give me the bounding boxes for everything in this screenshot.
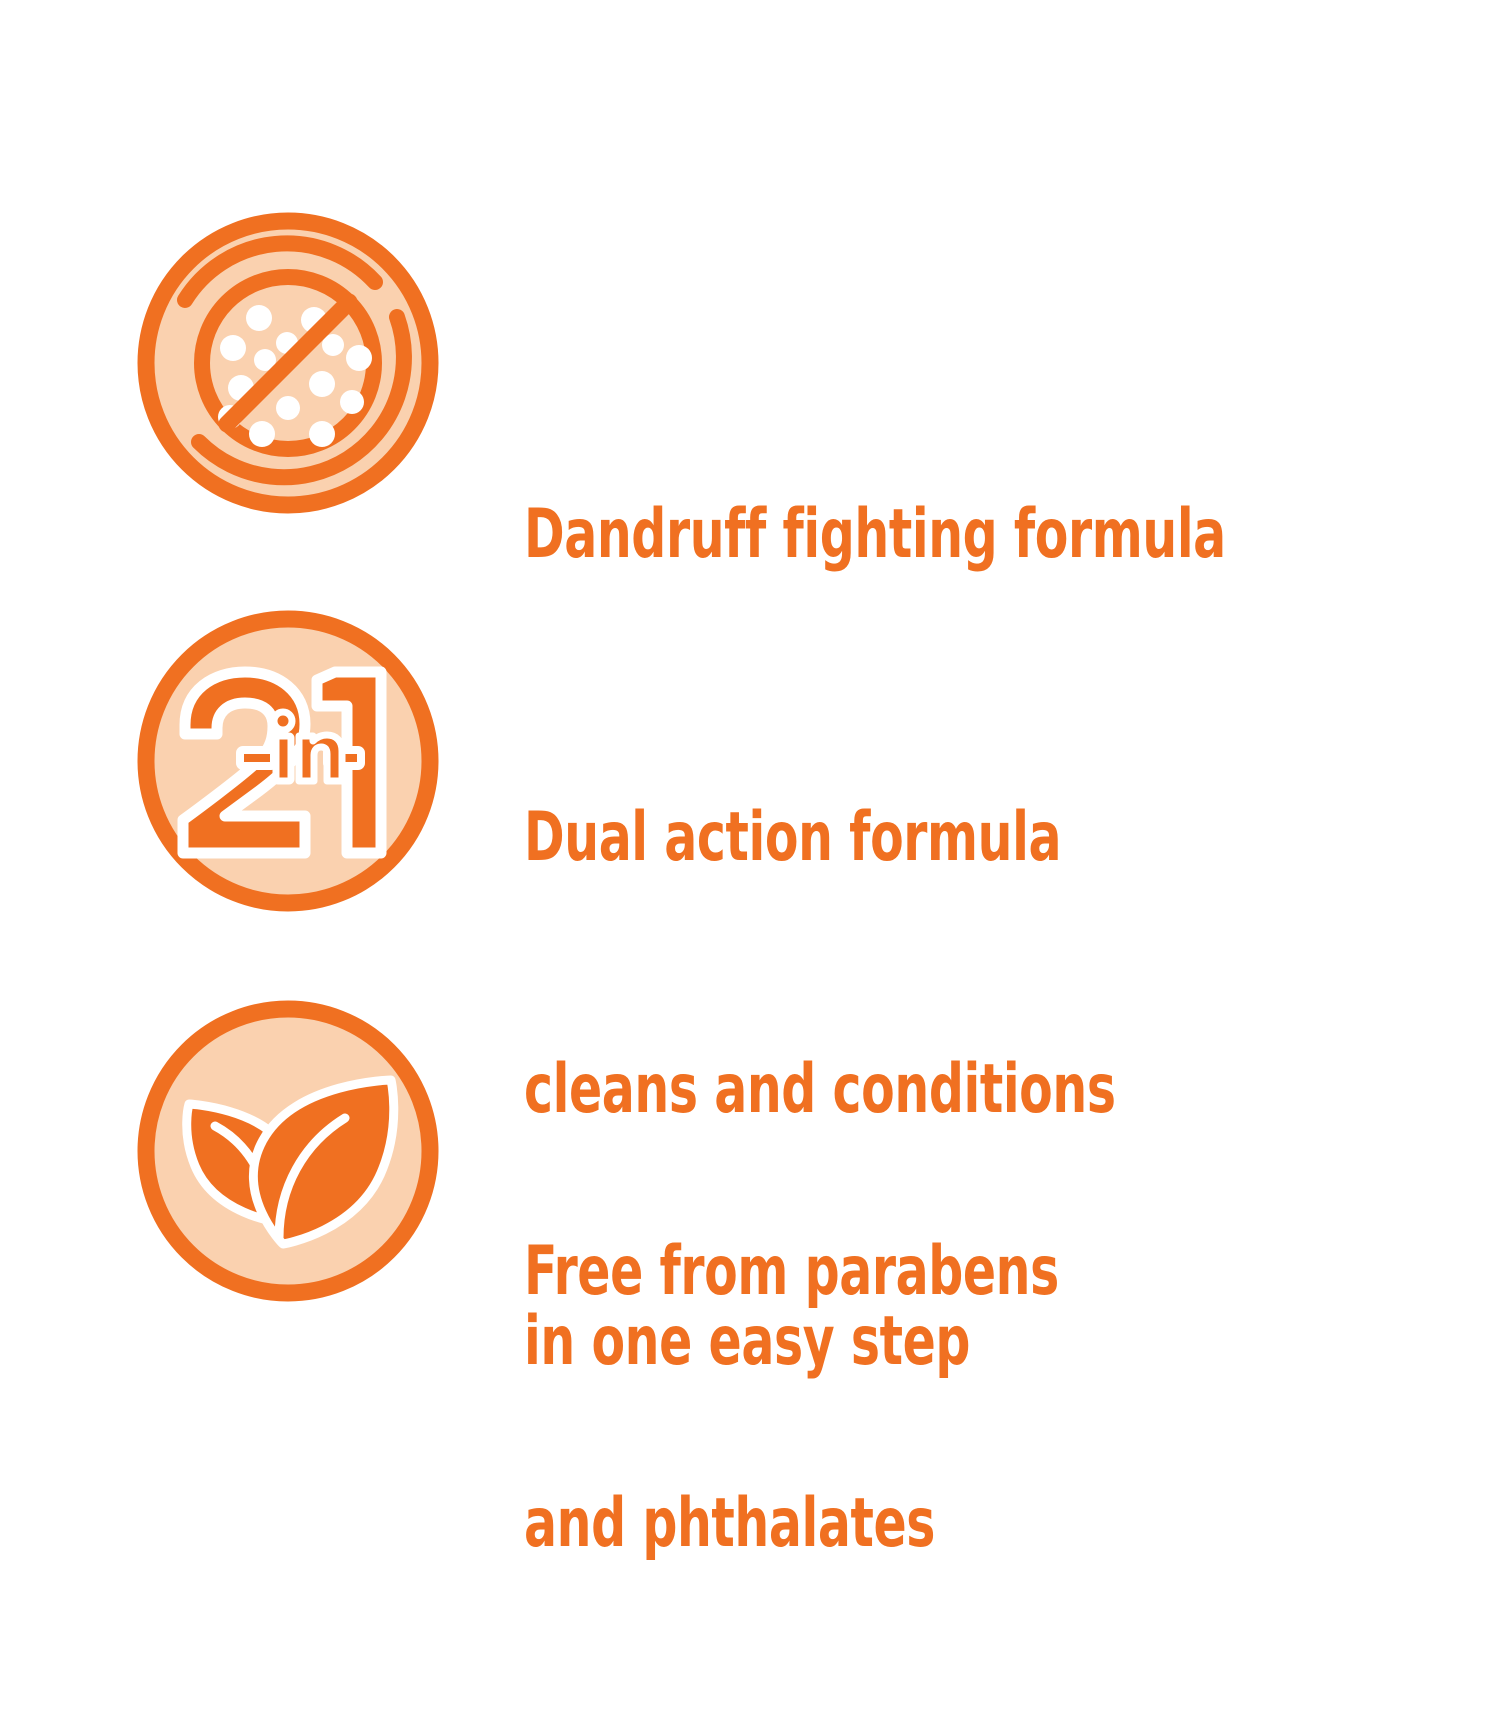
feature-row-free-from: Free from parabens and phthalates xyxy=(0,1000,1500,1302)
feature-row-dual-action: Dual action formula cleans and condition… xyxy=(0,610,1500,912)
feature-row-dandruff-fighting: Dandruff fighting formula xyxy=(0,212,1500,514)
feature-line: Dual action formula xyxy=(524,796,1268,880)
two-in-one-icon xyxy=(137,610,439,912)
feature-line: Free from parabens xyxy=(524,1230,1268,1314)
leaves-icon xyxy=(137,1000,439,1302)
feature-line: and phthalates xyxy=(524,1482,1268,1566)
no-dandruff-flakes-icon xyxy=(137,212,439,514)
feature-line: Dandruff fighting formula xyxy=(524,493,1268,577)
feature-text-free-from: Free from parabens and phthalates xyxy=(524,1062,1268,1734)
feature-callout-board: Dandruff fighting formula xyxy=(0,0,1500,1500)
